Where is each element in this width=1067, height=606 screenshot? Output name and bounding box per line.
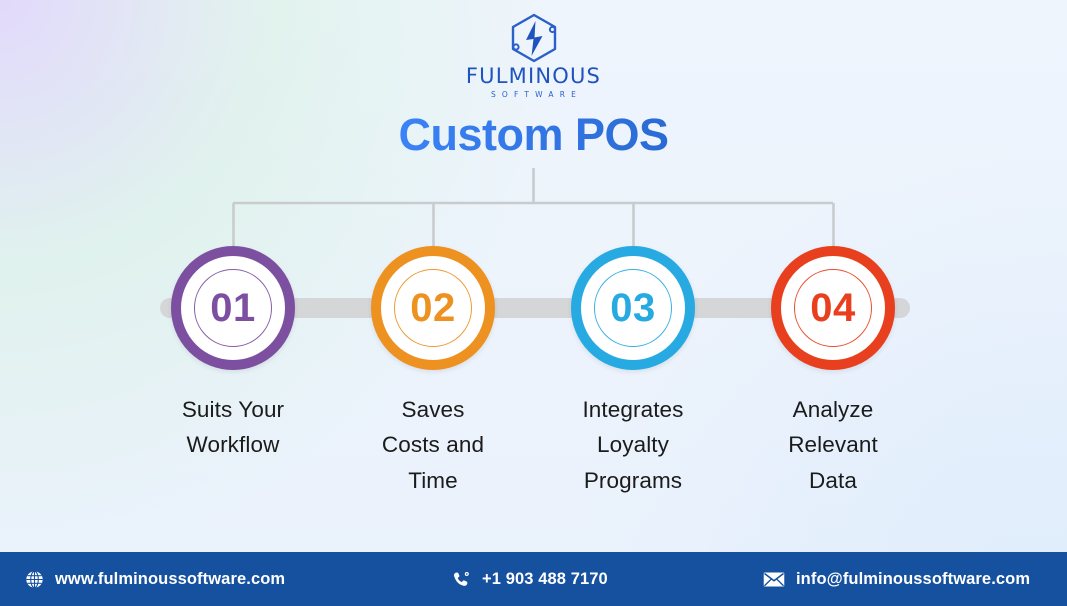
- step-number-04: 04: [810, 288, 856, 328]
- globe-icon: [25, 570, 44, 589]
- infographic-poster: FULMINOUS SOFTWARE Custom POS 01 Suits Y…: [0, 0, 1067, 606]
- footer-phone-text: +1 903 488 7170: [482, 570, 608, 589]
- step-circle-01: 01: [171, 246, 295, 370]
- hexagon-lightning-logo-icon: [505, 12, 563, 64]
- brand-wordmark: FULMINOUS: [466, 66, 601, 87]
- step-caption-01-line2: Workflow: [138, 427, 328, 462]
- step-circle-03: 03: [571, 246, 695, 370]
- step-number-02: 02: [410, 288, 456, 328]
- page-title: Custom POS: [0, 112, 1067, 157]
- envelope-icon: [763, 571, 785, 588]
- step-caption-02-line1: Saves: [338, 392, 528, 427]
- step-number-03: 03: [610, 288, 656, 328]
- step-caption-03-line1: Integrates: [538, 392, 728, 427]
- step-caption-03: Integrates Loyalty Programs: [538, 392, 728, 498]
- step-caption-01-line1: Suits Your: [138, 392, 328, 427]
- step-item-02[interactable]: 02 Saves Costs and Time: [333, 246, 533, 498]
- footer-email[interactable]: info@fulminoussoftware.com: [763, 570, 1030, 589]
- footer-phone[interactable]: +1 903 488 7170: [452, 570, 608, 589]
- brand-tagline: SOFTWARE: [485, 91, 582, 99]
- phone-icon: [452, 570, 471, 589]
- step-caption-04-line2: Relevant: [738, 427, 928, 462]
- step-item-01[interactable]: 01 Suits Your Workflow: [133, 246, 333, 463]
- step-caption-04: Analyze Relevant Data: [738, 392, 928, 498]
- steps-container: 01 Suits Your Workflow 02 Saves Costs an…: [0, 246, 1067, 546]
- footer-website-text: www.fulminoussoftware.com: [55, 570, 285, 589]
- step-caption-02: Saves Costs and Time: [338, 392, 528, 498]
- step-number-01: 01: [210, 288, 256, 328]
- step-caption-02-line3: Time: [338, 463, 528, 498]
- footer-contact-bar: www.fulminoussoftware.com +1 903 488 717…: [0, 552, 1067, 606]
- footer-email-text: info@fulminoussoftware.com: [796, 570, 1030, 589]
- step-circle-02: 02: [371, 246, 495, 370]
- step-caption-02-line2: Costs and: [338, 427, 528, 462]
- step-caption-03-line3: Programs: [538, 463, 728, 498]
- footer-website[interactable]: www.fulminoussoftware.com: [25, 570, 285, 589]
- step-caption-03-line2: Loyalty: [538, 427, 728, 462]
- step-caption-04-line1: Analyze: [738, 392, 928, 427]
- step-caption-04-line3: Data: [738, 463, 928, 498]
- step-caption-01: Suits Your Workflow: [138, 392, 328, 463]
- brand-logo: FULMINOUS SOFTWARE: [0, 12, 1067, 99]
- step-item-03[interactable]: 03 Integrates Loyalty Programs: [533, 246, 733, 498]
- step-circle-04: 04: [771, 246, 895, 370]
- step-item-04[interactable]: 04 Analyze Relevant Data: [733, 246, 933, 498]
